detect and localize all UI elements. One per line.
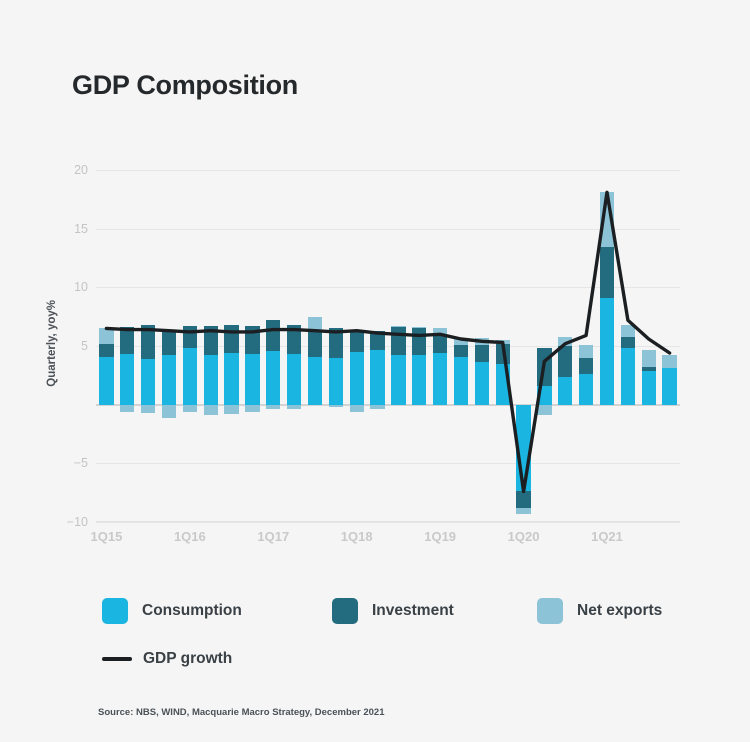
legend-label-net-exports: Net exports <box>577 602 662 620</box>
legend-swatch-consumption <box>102 598 128 624</box>
gdp-growth-line <box>106 192 669 491</box>
y-axis-tick: −5 <box>28 456 88 470</box>
page-title: GDP Composition <box>72 70 298 101</box>
y-axis-tick: 15 <box>28 222 88 236</box>
legend-item-consumption[interactable]: Consumption <box>102 598 332 624</box>
x-axis-tick: 1Q21 <box>591 529 623 544</box>
y-axis-tick: 20 <box>28 163 88 177</box>
legend-label-investment: Investment <box>372 602 454 620</box>
source-note: Source: NBS, WIND, Macquarie Macro Strat… <box>98 707 385 718</box>
legend-row-swatches: Consumption Investment Net exports <box>102 598 702 624</box>
gridline <box>96 522 680 523</box>
x-axis-tick: 1Q17 <box>257 529 289 544</box>
chart-card: GDP Composition Quarterly, yoy% 2015105−… <box>0 0 750 742</box>
legend-item-investment[interactable]: Investment <box>332 598 537 624</box>
legend-line-gdp-growth <box>102 657 132 661</box>
y-axis-tick: −10 <box>28 515 88 529</box>
x-axis-tick: 1Q18 <box>341 529 373 544</box>
y-axis-tick: 5 <box>28 339 88 353</box>
legend-swatch-net-exports <box>537 598 563 624</box>
y-axis-tick: 10 <box>28 280 88 294</box>
x-axis-tick: 1Q16 <box>174 529 206 544</box>
legend-row-line: GDP growth <box>102 650 702 668</box>
legend-item-gdp-growth[interactable]: GDP growth <box>102 650 232 668</box>
legend-item-net-exports[interactable]: Net exports <box>537 598 662 624</box>
gdp-growth-line-overlay <box>96 170 680 522</box>
legend-label-consumption: Consumption <box>142 602 242 620</box>
chart-legend: Consumption Investment Net exports GDP g… <box>102 598 702 668</box>
x-axis-tick: 1Q15 <box>91 529 123 544</box>
legend-swatch-investment <box>332 598 358 624</box>
x-axis-line <box>96 521 680 522</box>
legend-label-gdp-growth: GDP growth <box>143 650 232 668</box>
x-axis-tick: 1Q19 <box>424 529 456 544</box>
plot-area: 2015105−5−10 <box>96 170 680 522</box>
x-axis-tick: 1Q20 <box>508 529 540 544</box>
